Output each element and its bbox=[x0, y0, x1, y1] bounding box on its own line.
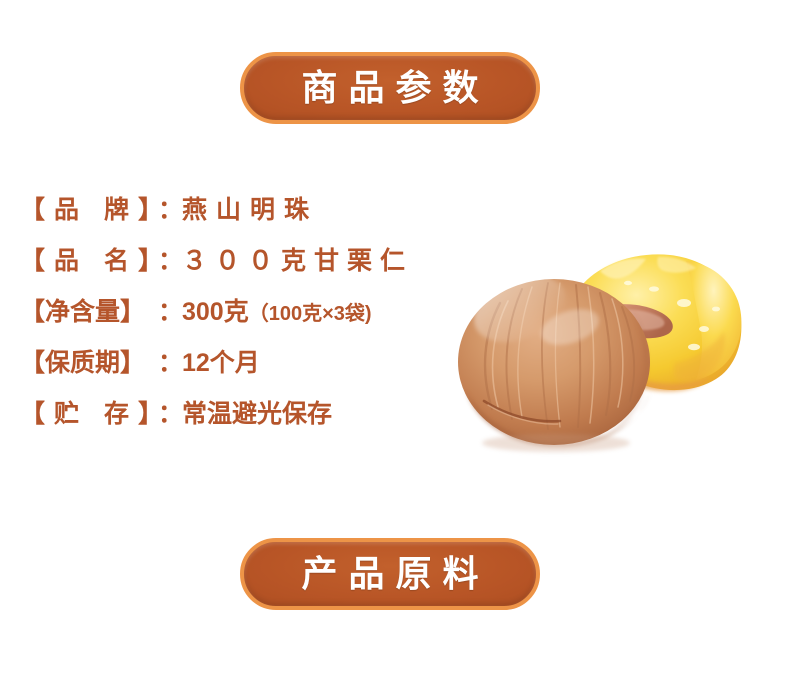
section-banner-top-label: 商品参数 bbox=[290, 70, 489, 106]
chestnut-product-image bbox=[448, 243, 758, 458]
spec-label-brand: 【品 牌】 bbox=[20, 198, 158, 223]
spec-label-net-weight: 【净含量】 bbox=[20, 300, 158, 325]
spec-colon-net-weight: ： bbox=[158, 300, 182, 325]
spec-row-net-weight: 【净含量】 ： 300克（100克×3袋) bbox=[20, 300, 440, 351]
spec-row-shelf-life: 【保质期】 ： 12个月 bbox=[20, 351, 440, 402]
spec-value-net-weight-detail: （100克×3袋) bbox=[249, 303, 372, 325]
spec-colon-shelf-life: ： bbox=[158, 351, 182, 376]
section-banner-product-ingredients: 产品原料 bbox=[240, 538, 540, 610]
spec-row-storage: 【贮 存】 ： 常温避光保存 bbox=[20, 402, 440, 453]
spec-colon-storage: ： bbox=[158, 402, 182, 427]
section-banner-bottom-label: 产品原料 bbox=[290, 556, 489, 592]
spec-label-storage: 【贮 存】 bbox=[20, 402, 158, 427]
spec-colon-brand: ： bbox=[158, 198, 182, 223]
product-spec-list: 【品 牌】 ： 燕山明珠 【品 名】 ： ３００克甘栗仁 【净含量】 ： 300… bbox=[20, 198, 440, 453]
spec-label-product-name: 【品 名】 bbox=[20, 249, 158, 274]
spec-colon-product-name: ： bbox=[158, 249, 182, 274]
section-banner-product-specs: 商品参数 bbox=[240, 52, 540, 124]
spec-value-product-name: ３００克甘栗仁 bbox=[182, 249, 413, 274]
spec-value-storage: 常温避光保存 bbox=[182, 402, 332, 427]
spec-value-brand: 燕山明珠 bbox=[182, 198, 318, 223]
spec-value-net-weight: 300克（100克×3袋) bbox=[182, 300, 372, 325]
spec-value-shelf-life: 12个月 bbox=[182, 351, 260, 376]
spec-row-product-name: 【品 名】 ： ３００克甘栗仁 bbox=[20, 249, 440, 300]
spec-label-shelf-life: 【保质期】 bbox=[20, 351, 158, 376]
spec-value-net-weight-main: 300克 bbox=[182, 298, 249, 326]
spec-row-brand: 【品 牌】 ： 燕山明珠 bbox=[20, 198, 440, 249]
